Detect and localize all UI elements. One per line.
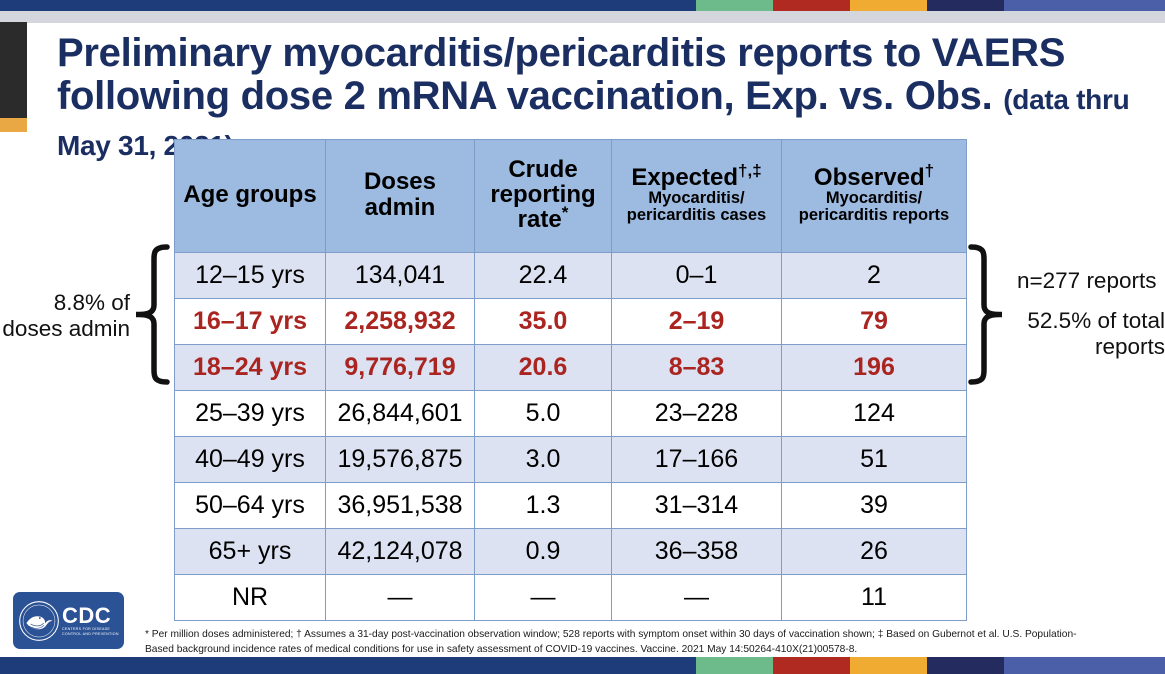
footnote: * Per million doses administered; † Assu… [145, 628, 1093, 657]
cell-rate: — [475, 575, 612, 621]
cell-doses: 42,124,078 [326, 529, 475, 575]
cell-expected: 0–1 [612, 253, 782, 299]
table-header: Age groupsDoses adminCrude reporting rat… [175, 140, 967, 253]
column-header-rate: Crude reporting rate* [475, 140, 612, 253]
cdc-tagline-2: Control and Prevention [62, 632, 119, 637]
cell-rate: 20.6 [475, 345, 612, 391]
cell-observed: 39 [782, 483, 967, 529]
right-brace-icon [968, 243, 1002, 386]
cell-rate: 22.4 [475, 253, 612, 299]
table-row: NR———11 [175, 575, 967, 621]
table-body: 12–15 yrs134,04122.40–1216–17 yrs2,258,9… [175, 253, 967, 621]
cell-age: 50–64 yrs [175, 483, 326, 529]
color-segment-slate-blue [1004, 657, 1165, 674]
left-black-accent [0, 22, 27, 126]
color-segment-red [773, 0, 850, 11]
cell-observed: 2 [782, 253, 967, 299]
cell-observed: 196 [782, 345, 967, 391]
cell-expected: 31–314 [612, 483, 782, 529]
color-segment-dark-navy [927, 0, 1004, 11]
cell-expected: 2–19 [612, 299, 782, 345]
column-header-title-rate: Crude reporting rate* [480, 157, 606, 233]
cdc-acronym: CDC [62, 605, 119, 627]
cell-age: 65+ yrs [175, 529, 326, 575]
cell-doses: 36,951,538 [326, 483, 475, 529]
right-annotation: n=277 reports 52.5% of total reports [1017, 268, 1165, 360]
column-header-sup-expected: †,‡ [738, 161, 762, 180]
cell-doses: 2,258,932 [326, 299, 475, 345]
table-row: 25–39 yrs26,844,6015.023–228124 [175, 391, 967, 437]
left-annotation: 8.8% of doses admin [0, 290, 130, 342]
cell-age: 16–17 yrs [175, 299, 326, 345]
left-brace [136, 243, 170, 386]
column-header-title-observed: Observed† [787, 165, 961, 190]
cell-age: 25–39 yrs [175, 391, 326, 437]
left-gold-accent [0, 118, 27, 132]
slide-root: Preliminary myocarditis/pericarditis rep… [0, 0, 1165, 674]
column-header-sup-observed: † [925, 161, 934, 180]
column-header-expected: Expected†,‡Myocarditis/ pericarditis cas… [612, 140, 782, 253]
cell-observed: 79 [782, 299, 967, 345]
hhs-seal-icon [18, 600, 60, 642]
cdc-logo: CDC Centers for Disease Control and Prev… [13, 592, 124, 649]
table-row: 65+ yrs42,124,0780.936–35826 [175, 529, 967, 575]
cell-age: 40–49 yrs [175, 437, 326, 483]
vaers-table: Age groupsDoses adminCrude reporting rat… [174, 139, 967, 621]
color-segment-green [696, 657, 773, 674]
right-annotation-line1: n=277 reports [1017, 268, 1165, 294]
cell-age: NR [175, 575, 326, 621]
column-header-title-doses: Doses admin [331, 169, 469, 219]
top-color-bar [0, 0, 1165, 11]
cell-expected: — [612, 575, 782, 621]
color-segment-navy-wide [0, 657, 696, 674]
cell-expected: 36–358 [612, 529, 782, 575]
cell-doses: 19,576,875 [326, 437, 475, 483]
table-row: 50–64 yrs36,951,5381.331–31439 [175, 483, 967, 529]
cell-rate: 35.0 [475, 299, 612, 345]
table-row: 16–17 yrs2,258,93235.02–1979 [175, 299, 967, 345]
cell-rate: 1.3 [475, 483, 612, 529]
cell-observed: 11 [782, 575, 967, 621]
cell-expected: 23–228 [612, 391, 782, 437]
cell-age: 12–15 yrs [175, 253, 326, 299]
cell-rate: 0.9 [475, 529, 612, 575]
cell-expected: 17–166 [612, 437, 782, 483]
cell-doses: 134,041 [326, 253, 475, 299]
left-brace-icon [136, 243, 170, 386]
color-segment-red [773, 657, 850, 674]
color-segment-green [696, 0, 773, 11]
cdc-logo-text: CDC Centers for Disease Control and Prev… [62, 605, 119, 637]
column-header-title-age: Age groups [180, 182, 320, 207]
cell-expected: 8–83 [612, 345, 782, 391]
table-header-row: Age groupsDoses adminCrude reporting rat… [175, 140, 967, 253]
color-segment-orange [850, 657, 927, 674]
cell-observed: 26 [782, 529, 967, 575]
color-segment-navy-wide [0, 0, 696, 11]
table-row: 40–49 yrs19,576,8753.017–16651 [175, 437, 967, 483]
cell-doses: 9,776,719 [326, 345, 475, 391]
color-segment-slate-blue [1004, 0, 1165, 11]
table-row: 12–15 yrs134,04122.40–12 [175, 253, 967, 299]
column-header-subtitle-observed: Myocarditis/ pericarditis reports [787, 190, 961, 225]
cell-doses: — [326, 575, 475, 621]
column-header-sup-rate: * [562, 203, 569, 222]
cell-rate: 3.0 [475, 437, 612, 483]
right-annotation-line2: 52.5% of total reports [1017, 308, 1165, 360]
column-header-title-expected: Expected†,‡ [617, 165, 776, 190]
cell-age: 18–24 yrs [175, 345, 326, 391]
cell-observed: 51 [782, 437, 967, 483]
top-grey-band [0, 11, 1165, 23]
cell-observed: 124 [782, 391, 967, 437]
color-segment-orange [850, 0, 927, 11]
color-segment-dark-navy [927, 657, 1004, 674]
table-row: 18–24 yrs9,776,71920.68–83196 [175, 345, 967, 391]
bottom-color-bar [0, 657, 1165, 674]
column-header-observed: Observed†Myocarditis/ pericarditis repor… [782, 140, 967, 253]
page-title-main: Preliminary myocarditis/pericarditis rep… [57, 31, 1065, 118]
column-header-doses: Doses admin [326, 140, 475, 253]
cell-rate: 5.0 [475, 391, 612, 437]
data-table-wrapper: Age groupsDoses adminCrude reporting rat… [174, 139, 966, 621]
column-header-age: Age groups [175, 140, 326, 253]
right-brace [968, 243, 1002, 386]
column-header-subtitle-expected: Myocarditis/ pericarditis cases [617, 190, 776, 225]
cell-doses: 26,844,601 [326, 391, 475, 437]
